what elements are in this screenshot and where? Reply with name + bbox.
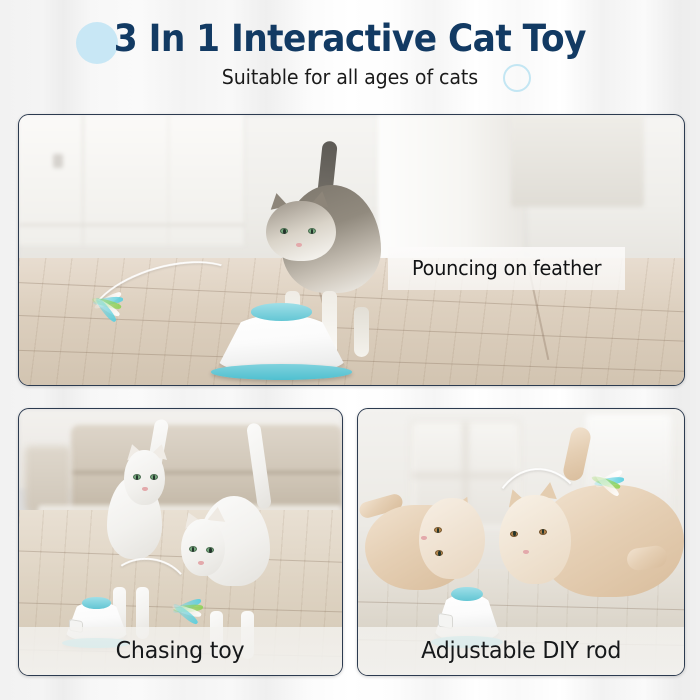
title-blob-decoration [76, 22, 118, 64]
cat-pupil [438, 551, 441, 556]
cat-leg [354, 307, 369, 357]
caption-text: Chasing toy [116, 638, 245, 664]
label-pouncing-on-feather: Pouncing on feather [388, 247, 625, 290]
subtitle-row: Suitable for all ages of cats [0, 67, 700, 89]
cat-nose [523, 550, 529, 554]
caption-chasing-toy: Chasing toy [19, 627, 342, 675]
toy-base-ring [211, 364, 352, 380]
title-row: 3 In 1 Interactive Cat Toy [0, 20, 700, 57]
cat-head [266, 201, 335, 261]
cat-nose [142, 487, 148, 491]
cat-toy-device [215, 301, 348, 379]
photo-pouncing-on-feather: Pouncing on feather [19, 115, 684, 385]
cat-eye [308, 228, 316, 234]
cat-head [181, 519, 226, 576]
cat-pupil [192, 547, 195, 552]
cat-pupil [513, 531, 516, 536]
header: 3 In 1 Interactive Cat Toy Suitable for … [0, 0, 700, 108]
product-marketing-image: 3 In 1 Interactive Cat Toy Suitable for … [0, 0, 700, 700]
cat-nose [421, 536, 427, 540]
toy-feather [161, 595, 217, 631]
cat-eye [280, 228, 288, 234]
cat-nose [296, 243, 302, 247]
toy-top-cap [451, 587, 482, 601]
cat-eye [189, 546, 197, 552]
panel-chasing-toy: Chasing toy [18, 408, 343, 676]
cat-eye [435, 550, 443, 556]
subtitle-ring-decoration [503, 64, 531, 92]
cat-pupil [437, 528, 440, 533]
cat-eye [133, 474, 141, 480]
panel-adjustable-diy-rod: Adjustable DIY rod [357, 408, 685, 676]
cat-eye [510, 531, 518, 537]
kitchen-door [511, 115, 644, 207]
cat-eye [539, 529, 547, 535]
caption-text: Adjustable DIY rod [421, 638, 621, 664]
cat-pupil [209, 548, 212, 553]
cat-eye [434, 527, 442, 533]
cabinet-knob [53, 154, 63, 168]
cat-eye [150, 474, 158, 480]
page-subtitle: Suitable for all ages of cats [222, 67, 478, 87]
label-text: Pouncing on feather [412, 256, 601, 280]
cat-pupil [153, 475, 156, 480]
cat-head [499, 495, 571, 584]
kitchen-cabinet [19, 115, 245, 245]
cat-pupil [311, 229, 314, 234]
page-title: 3 In 1 Interactive Cat Toy [114, 20, 586, 57]
cabinet-seam [19, 224, 244, 226]
photo-chasing-toy: Chasing toy [19, 409, 342, 675]
cat-pupil [136, 475, 139, 480]
cat-nose [198, 561, 204, 565]
cat-pupil [542, 529, 545, 534]
toy-top-cap [251, 303, 312, 320]
caption-adjustable-diy-rod: Adjustable DIY rod [358, 627, 684, 675]
panel-pouncing-on-feather: Pouncing on feather [18, 114, 685, 386]
toy-feather [79, 288, 139, 330]
photo-adjustable-diy-rod: Adjustable DIY rod [358, 409, 684, 675]
toy-feather [580, 468, 638, 504]
cat-eye [206, 547, 214, 553]
cat-head [124, 450, 166, 504]
cat-head [419, 498, 485, 579]
cat-pupil [283, 229, 286, 234]
